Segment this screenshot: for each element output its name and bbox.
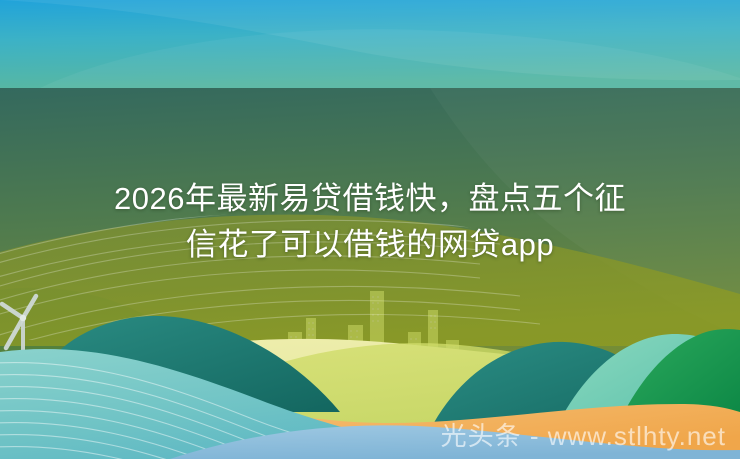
sky-band	[0, 0, 740, 88]
poster-image: 2026年最新易贷借钱快，盘点五个征 信花了可以借钱的网贷app 光头条 - w…	[0, 0, 740, 459]
turbine-hub	[20, 315, 26, 321]
page-title: 2026年最新易贷借钱快，盘点五个征 信花了可以借钱的网贷app	[0, 176, 740, 268]
